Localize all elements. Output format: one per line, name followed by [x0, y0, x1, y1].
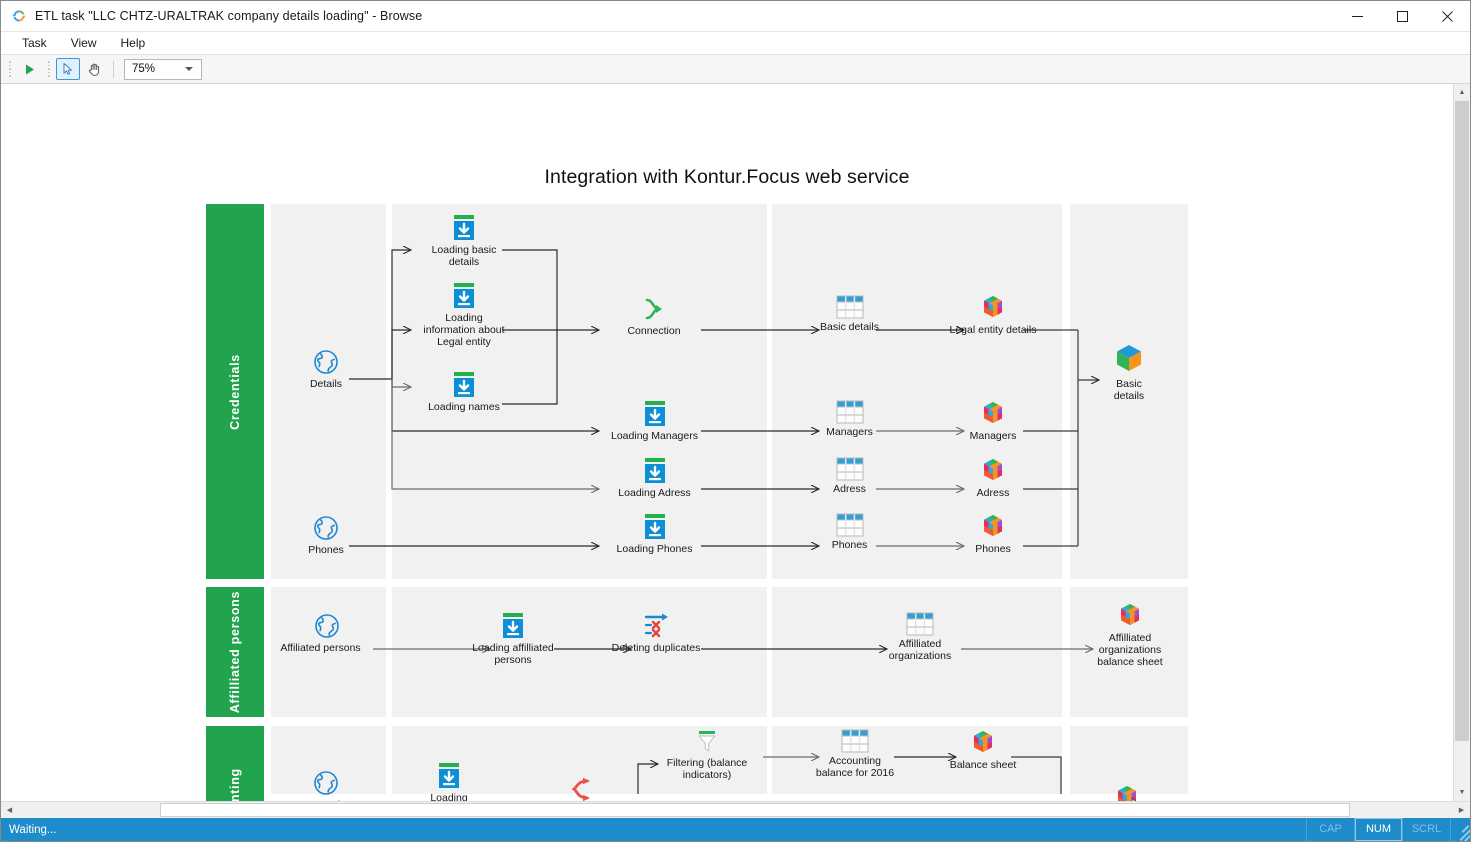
node-loading-basic-details-label: Loading basic details: [432, 244, 497, 268]
node-cube-managers[interactable]: Managers: [953, 400, 1033, 442]
node-splitting[interactable]: Splitting: [546, 776, 616, 801]
table-icon: [836, 400, 864, 424]
chevron-down-icon: [185, 67, 193, 71]
node-connection[interactable]: Connection: [604, 295, 704, 337]
menu-item-view[interactable]: View: [60, 33, 108, 53]
download-icon: [451, 371, 477, 399]
node-table-basic-details[interactable]: Basic details: [807, 295, 892, 333]
olap-cube-with-pointer-icon: [1113, 784, 1147, 801]
status-cap-indicator: CAP: [1306, 818, 1354, 841]
minimize-button[interactable]: [1335, 1, 1380, 32]
zoom-level-value: 75%: [132, 63, 155, 75]
globe-icon: [312, 769, 340, 797]
node-details-label: Details: [310, 378, 342, 390]
vertical-scrollbar[interactable]: ▲ ▼: [1453, 84, 1470, 801]
node-cube-affiliated-organizations[interactable]: Affilliated organizations balance sheet: [1084, 602, 1176, 669]
window-title: ETL task "LLC CHTZ-URALTRAK company deta…: [35, 9, 1335, 23]
download-icon: [451, 214, 477, 242]
etl-diagram: Credentials Affilliated persons Accounti…: [1, 84, 1453, 794]
node-table-phones[interactable]: Phones: [807, 513, 892, 551]
node-final-basic-details-label: Basic details: [1114, 378, 1144, 402]
node-accounting-reporting-source[interactable]: Accounting reporting: [285, 769, 367, 801]
node-affiliated-persons-source-label: Affiliated persons: [266, 642, 376, 654]
node-cube-adress-label: Adress: [977, 487, 1010, 499]
node-loading-legal-entity-label: Loading information about Legal entity: [423, 312, 504, 349]
node-cube-phones[interactable]: Phones: [953, 513, 1033, 555]
node-details[interactable]: Details: [285, 348, 367, 390]
table-icon: [841, 729, 869, 753]
node-loading-affiliated-persons[interactable]: Loading affilliated persons: [461, 612, 565, 666]
olap-cube-icon: [979, 294, 1007, 322]
pointer-tool-button[interactable]: [56, 58, 80, 80]
node-phones-source-label: Phones: [308, 544, 344, 556]
node-cube-adress[interactable]: Adress: [953, 457, 1033, 499]
node-phones-source[interactable]: Phones: [285, 514, 367, 556]
toolbar-separator: [113, 61, 114, 78]
node-loading-phones[interactable]: Loading Phones: [597, 513, 712, 555]
status-message: Waiting...: [1, 824, 1306, 836]
node-affiliated-persons-source[interactable]: Affiliated persons: [285, 612, 369, 654]
node-filter-balance-indicators-label: Filtering (balance indicators): [667, 757, 748, 781]
split-icon: [566, 776, 596, 801]
node-table-accounting-balance-label: Accounting balance for 2016: [816, 755, 894, 779]
app-refresh-cycle-icon: [11, 8, 27, 24]
toolbar-grip-2[interactable]: [45, 60, 52, 78]
node-table-adress[interactable]: Adress: [807, 457, 892, 495]
olap-cube-icon: [969, 729, 997, 757]
node-table-phones-label: Phones: [832, 539, 868, 551]
solid-cube-icon: [1112, 342, 1146, 376]
download-icon: [642, 400, 668, 428]
node-cube-legal-entity-details-label: Legal entity details: [950, 324, 1037, 336]
toolbar-grip-1[interactable]: [6, 60, 13, 78]
node-table-basic-details-label: Basic details: [820, 321, 879, 333]
olap-cube-icon: [979, 513, 1007, 541]
table-icon: [906, 612, 934, 636]
node-table-accounting-balance[interactable]: Accounting balance for 2016: [809, 729, 901, 779]
node-cube-affiliated-organizations-label: Affilliated organizations balance sheet: [1097, 632, 1162, 669]
node-table-adress-label: Adress: [833, 483, 866, 495]
node-table-managers-label: Managers: [826, 426, 873, 438]
node-loading-accounting-2016-label: Loading accounting for 2016: [416, 792, 482, 801]
horizontal-scroll-track[interactable]: [18, 802, 1453, 818]
download-icon: [500, 612, 526, 640]
download-icon: [642, 513, 668, 541]
globe-icon: [312, 514, 340, 542]
node-table-affiliated-organizations[interactable]: Affilliated organizations: [879, 612, 961, 662]
globe-icon: [312, 348, 340, 376]
node-final-company-cube[interactable]: The Company Financial Reporting cube: [1086, 784, 1174, 801]
table-icon: [836, 457, 864, 481]
resize-grip-icon[interactable]: [1450, 818, 1470, 841]
olap-cube-icon: [979, 400, 1007, 428]
merge-connection-icon: [639, 295, 669, 323]
delete-duplicates-icon: [640, 612, 672, 640]
toolbar: 75%: [1, 55, 1470, 84]
status-bar: Waiting... CAP NUM SCRL: [1, 818, 1470, 841]
application-window: ETL task "LLC CHTZ-URALTRAK company deta…: [0, 0, 1471, 842]
vertical-scroll-track[interactable]: [1454, 101, 1470, 784]
maximize-button[interactable]: [1380, 1, 1425, 32]
node-loading-basic-details[interactable]: Loading basic details: [414, 214, 514, 268]
diagram-canvas[interactable]: Integration with Kontur.Focus web servic…: [1, 84, 1453, 801]
scroll-right-arrow-icon[interactable]: ▶: [1453, 802, 1470, 818]
menu-item-help[interactable]: Help: [109, 33, 156, 53]
node-cube-phones-label: Phones: [975, 543, 1011, 555]
table-icon: [836, 295, 864, 319]
node-table-affiliated-organizations-label: Affilliated organizations: [889, 638, 951, 662]
filter-icon: [695, 729, 719, 755]
title-bar: ETL task "LLC CHTZ-URALTRAK company deta…: [1, 1, 1470, 32]
canvas-area: Integration with Kontur.Focus web servic…: [1, 84, 1470, 801]
download-icon: [642, 457, 668, 485]
lane-label-affiliated-persons-text: Affilliated persons: [228, 591, 242, 713]
menu-bar: Task View Help: [1, 32, 1470, 55]
lane-label-accounting-text: Accounting: [228, 768, 242, 801]
download-icon: [451, 282, 477, 310]
node-loading-legal-entity[interactable]: Loading information about Legal entity: [404, 282, 524, 349]
node-deleting-duplicates[interactable]: Deleting duplicates: [606, 612, 706, 654]
horizontal-scrollbar[interactable]: ◀ ▶: [1, 801, 1470, 818]
lane-label-affiliated-persons: Affilliated persons: [206, 587, 264, 717]
vertical-scroll-thumb[interactable]: [1455, 101, 1469, 741]
node-cube-balance-sheet[interactable]: Balance sheet: [942, 729, 1024, 771]
run-button[interactable]: [17, 58, 41, 80]
node-loading-managers-label: Loading Managers: [611, 430, 698, 442]
node-loading-accounting-2016[interactable]: Loading accounting for 2016: [408, 762, 490, 801]
node-deleting-duplicates-label: Deleting duplicates: [612, 642, 701, 654]
node-accounting-reporting-source-label: Accounting reporting: [300, 799, 352, 801]
node-filter-balance-indicators[interactable]: Filtering (balance indicators): [652, 729, 762, 781]
node-loading-names-label: Loading names: [428, 401, 500, 413]
zoom-level-combobox[interactable]: 75%: [124, 59, 202, 80]
node-cube-managers-label: Managers: [970, 430, 1017, 442]
download-icon: [436, 762, 462, 790]
node-cube-balance-sheet-label: Balance sheet: [950, 759, 1017, 771]
scroll-left-arrow-icon[interactable]: ◀: [1, 802, 18, 818]
table-icon: [836, 513, 864, 537]
node-loading-affiliated-persons-label: Loading affilliated persons: [472, 642, 554, 666]
olap-cube-icon: [979, 457, 1007, 485]
globe-icon: [313, 612, 341, 640]
node-loading-phones-label: Loading Phones: [617, 543, 693, 555]
status-num-indicator: NUM: [1354, 818, 1402, 841]
node-loading-names[interactable]: Loading names: [414, 371, 514, 413]
scroll-down-arrow-icon[interactable]: ▼: [1454, 784, 1470, 801]
scroll-up-arrow-icon[interactable]: ▲: [1454, 84, 1470, 101]
node-loading-managers[interactable]: Loading Managers: [597, 400, 712, 442]
hand-tool-button[interactable]: [82, 58, 106, 80]
node-connection-label: Connection: [627, 325, 680, 337]
node-loading-adress[interactable]: Loading Adress: [597, 457, 712, 499]
menu-item-task[interactable]: Task: [11, 33, 58, 53]
close-button[interactable]: [1425, 1, 1470, 32]
olap-cube-icon: [1116, 602, 1144, 630]
lane-label-credentials-text: Credentials: [228, 354, 242, 430]
horizontal-scroll-thumb[interactable]: [160, 803, 1350, 817]
status-scrl-indicator: SCRL: [1402, 818, 1450, 841]
node-loading-adress-label: Loading Adress: [618, 487, 690, 499]
node-final-basic-details[interactable]: Basic details: [1089, 342, 1169, 402]
lane-label-credentials: Credentials: [206, 204, 264, 579]
lane-label-accounting: Accounting: [206, 726, 264, 801]
node-table-managers[interactable]: Managers: [807, 400, 892, 438]
node-cube-legal-entity-details[interactable]: Legal entity details: [943, 294, 1043, 336]
